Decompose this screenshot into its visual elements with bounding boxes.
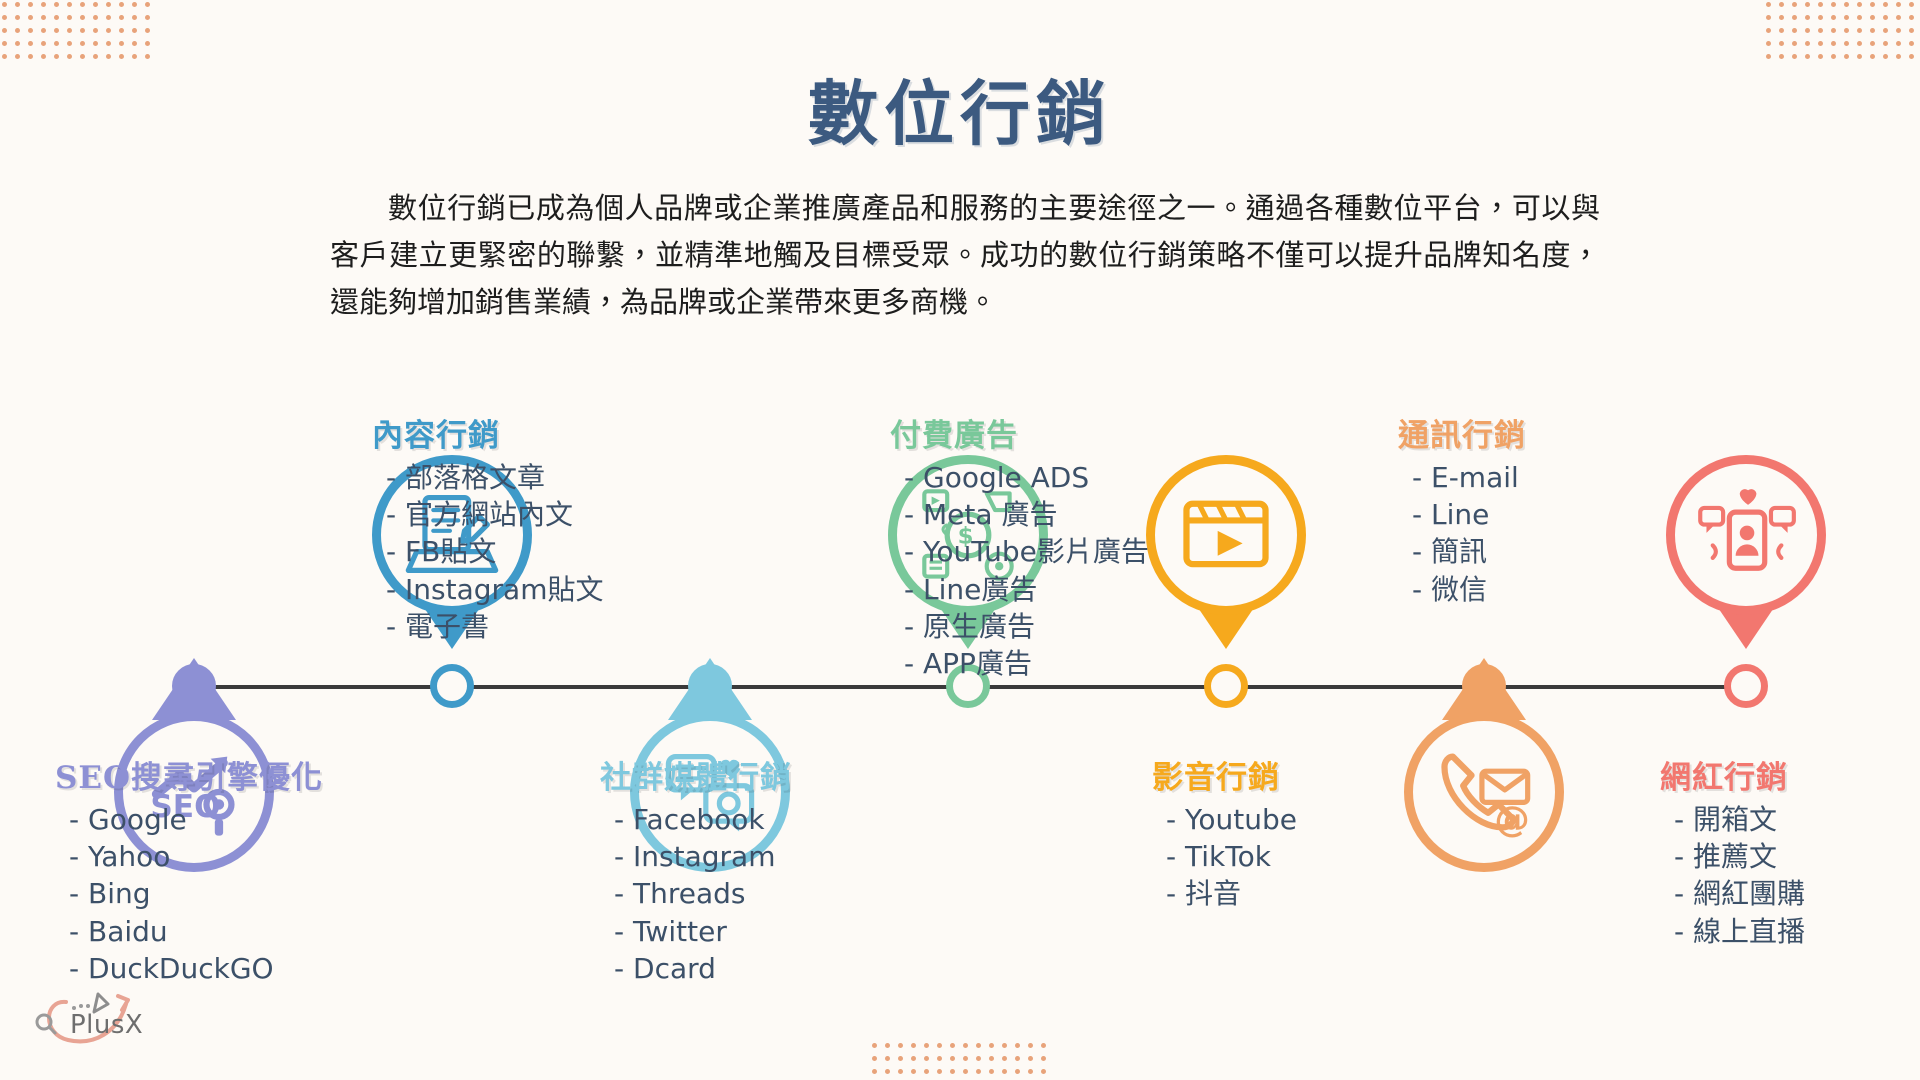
decor-dot [974, 1067, 987, 1080]
decor-dot [143, 39, 156, 52]
decor-dot [104, 39, 117, 52]
list-item: Instagram貼文 [386, 571, 603, 608]
category-heading-content: 內容行銷 [372, 410, 603, 455]
decor-dot [1790, 0, 1803, 13]
decor-dot [1803, 13, 1816, 26]
decor-dot [39, 39, 52, 52]
list-item: Meta 廣告 [904, 496, 1149, 533]
decor-dot [91, 13, 104, 26]
plusx-logo: PlusX [22, 986, 162, 1058]
decor-dot [1907, 26, 1920, 39]
list-item: 開箱文 [1674, 801, 1805, 838]
decor-dot [1777, 39, 1790, 52]
decor-dot [1907, 13, 1920, 26]
decor-dot [1907, 39, 1920, 52]
decor-dot [1777, 26, 1790, 39]
decor-dot [1039, 1041, 1052, 1054]
decor-dot [39, 26, 52, 39]
decor-dot [1764, 0, 1777, 13]
category-block-messaging: 通訊行銷E-mailLine簡訊微信 [1398, 410, 1526, 608]
decor-dot [1790, 39, 1803, 52]
decor-dots-top-left [0, 0, 156, 65]
decor-dot [26, 13, 39, 26]
decor-dot [1855, 39, 1868, 52]
decor-dot [1026, 1054, 1039, 1067]
decor-dot [1039, 1067, 1052, 1080]
decor-dot [65, 0, 78, 13]
infographic-canvas: 數位行銷 數位行銷已成為個人品牌或企業推廣產品和服務的主要途徑之一。通過各種數位… [0, 0, 1920, 1080]
decor-dot [1000, 1067, 1013, 1080]
svg-text:@: @ [1494, 800, 1529, 841]
decor-dot [1868, 13, 1881, 26]
decor-dot [143, 0, 156, 13]
decor-dot [896, 1054, 909, 1067]
decor-dots-top-right [1764, 0, 1920, 65]
phone-envelope-at-icon: @ [1404, 712, 1564, 872]
decor-dot [91, 39, 104, 52]
decor-dot [1816, 26, 1829, 39]
category-list-social: FacebookInstagramThreadsTwitterDcard [600, 801, 792, 987]
decor-dot [1777, 13, 1790, 26]
list-item: Yahoo [69, 838, 323, 875]
decor-dot [91, 0, 104, 13]
decor-dot [948, 1054, 961, 1067]
list-item: 推薦文 [1674, 838, 1805, 875]
list-item: Dcard [614, 950, 792, 987]
decor-dot [948, 1067, 961, 1080]
list-item: YouTube影片廣告 [904, 533, 1149, 570]
pin-marker-influencer[interactable] [1666, 455, 1826, 651]
decor-dot [1764, 39, 1777, 52]
category-heading-messaging: 通訊行銷 [1398, 410, 1526, 455]
decor-dot [935, 1054, 948, 1067]
decor-dot [922, 1041, 935, 1054]
category-heading-video: 影音行銷 [1152, 752, 1297, 797]
list-item: 原生廣告 [904, 608, 1149, 645]
decor-dot [1842, 0, 1855, 13]
decor-dot [78, 13, 91, 26]
decor-dot [52, 0, 65, 13]
category-list-influencer: 開箱文推薦文網紅團購線上直播 [1660, 801, 1805, 950]
decor-dot [117, 39, 130, 52]
decor-dot [870, 1067, 883, 1080]
decor-dot [1764, 26, 1777, 39]
list-item: Line廣告 [904, 571, 1149, 608]
decor-dot [1894, 39, 1907, 52]
list-item: Google [69, 801, 323, 838]
decor-dot [961, 1067, 974, 1080]
list-item: DuckDuckGO [69, 950, 323, 987]
decor-dot [1855, 26, 1868, 39]
decor-dot [935, 1041, 948, 1054]
decor-dot [78, 39, 91, 52]
decor-dot [104, 0, 117, 13]
decor-dot [1881, 0, 1894, 13]
decor-dot [870, 1054, 883, 1067]
decor-dot [1013, 1054, 1026, 1067]
decor-dot [78, 0, 91, 13]
category-block-content: 內容行銷部落格文章官方網站內文FB貼文Instagram貼文電子書 [372, 410, 603, 645]
decor-dot [1829, 39, 1842, 52]
decor-dot [91, 26, 104, 39]
decor-dots-bottom [870, 1041, 1052, 1080]
decor-dot [1842, 13, 1855, 26]
list-item: Bing [69, 875, 323, 912]
timeline-node-video[interactable] [1204, 664, 1248, 708]
decor-dot [1000, 1054, 1013, 1067]
decor-dot [26, 26, 39, 39]
decor-dot [0, 39, 13, 52]
category-block-influencer: 網紅行銷開箱文推薦文網紅團購線上直播 [1660, 752, 1805, 950]
decor-dot [26, 39, 39, 52]
video-play-clapper-icon [1146, 455, 1306, 615]
decor-dot [26, 0, 39, 13]
list-item: Threads [614, 875, 792, 912]
decor-dot [52, 39, 65, 52]
decor-dot [974, 1041, 987, 1054]
list-item: 部落格文章 [386, 459, 603, 496]
decor-dot [117, 13, 130, 26]
category-block-social: 社群媒體行銷FacebookInstagramThreadsTwitterDca… [600, 752, 792, 987]
decor-dot [1842, 39, 1855, 52]
decor-dot [13, 26, 26, 39]
decor-dot [65, 13, 78, 26]
decor-dot [1764, 13, 1777, 26]
decor-dot [1855, 0, 1868, 13]
intro-paragraph: 數位行銷已成為個人品牌或企業推廣產品和服務的主要途徑之一。通過各種數位平台，可以… [330, 185, 1600, 326]
decor-dot [1013, 1041, 1026, 1054]
decor-dot [1803, 0, 1816, 13]
list-item: Baidu [69, 913, 323, 950]
decor-dot [13, 39, 26, 52]
decor-dot [1894, 13, 1907, 26]
list-item: 微信 [1412, 571, 1526, 608]
decor-dot [143, 13, 156, 26]
decor-dot [909, 1067, 922, 1080]
decor-dot [896, 1067, 909, 1080]
decor-dot [1013, 1067, 1026, 1080]
category-list-seo: GoogleYahooBingBaiduDuckDuckGO [55, 801, 323, 987]
list-item: Google ADS [904, 459, 1149, 496]
category-heading-paid-ads: 付費廣告 [890, 410, 1149, 455]
decor-dot [922, 1067, 935, 1080]
pin-marker-video[interactable] [1146, 455, 1306, 651]
decor-dot [1790, 26, 1803, 39]
category-heading-influencer: 網紅行銷 [1660, 752, 1805, 797]
decor-dot [1868, 0, 1881, 13]
list-item: Twitter [614, 913, 792, 950]
decor-dot [1777, 0, 1790, 13]
decor-dot [1855, 13, 1868, 26]
decor-dot [961, 1054, 974, 1067]
pin-tail [668, 658, 752, 720]
page-title: 數位行銷 [0, 58, 1920, 159]
category-block-seo: SEO搜尋引擎優化GoogleYahooBingBaiduDuckDuckGO [55, 752, 323, 987]
decor-dot [948, 1041, 961, 1054]
decor-dot [1829, 0, 1842, 13]
decor-dot [1829, 13, 1842, 26]
list-item: 官方網站內文 [386, 496, 603, 533]
decor-dot [0, 26, 13, 39]
list-item: Facebook [614, 801, 792, 838]
decor-dot [130, 39, 143, 52]
category-heading-seo: SEO搜尋引擎優化 [55, 752, 323, 797]
decor-dot [1881, 39, 1894, 52]
decor-dot [1816, 13, 1829, 26]
decor-dot [104, 26, 117, 39]
category-list-content: 部落格文章官方網站內文FB貼文Instagram貼文電子書 [372, 459, 603, 645]
category-list-paid-ads: Google ADSMeta 廣告YouTube影片廣告Line廣告原生廣告AP… [890, 459, 1149, 682]
decor-dot [104, 13, 117, 26]
decor-dot [896, 1041, 909, 1054]
decor-dot [909, 1054, 922, 1067]
pin-tail [1442, 658, 1526, 720]
decor-dot [78, 26, 91, 39]
timeline-node-content[interactable] [430, 664, 474, 708]
decor-dot [52, 26, 65, 39]
decor-dot [1026, 1041, 1039, 1054]
pin-tail [152, 658, 236, 720]
decor-dot [1816, 0, 1829, 13]
decor-dot [1894, 0, 1907, 13]
category-block-paid-ads: 付費廣告Google ADSMeta 廣告YouTube影片廣告Line廣告原生… [890, 410, 1149, 682]
category-list-messaging: E-mailLine簡訊微信 [1398, 459, 1526, 608]
decor-dot [922, 1054, 935, 1067]
decor-dot [1842, 26, 1855, 39]
list-item: Line [1412, 496, 1526, 533]
decor-dot [39, 0, 52, 13]
decor-dot [1816, 39, 1829, 52]
decor-dot [974, 1054, 987, 1067]
decor-dot [987, 1067, 1000, 1080]
list-item: FB貼文 [386, 533, 603, 570]
decor-dot [987, 1041, 1000, 1054]
decor-dot [1803, 39, 1816, 52]
decor-dot [0, 13, 13, 26]
decor-dot [117, 26, 130, 39]
decor-dot [1894, 26, 1907, 39]
decor-dot [1803, 26, 1816, 39]
decor-dot [117, 0, 130, 13]
list-item: APP廣告 [904, 645, 1149, 682]
timeline-node-influencer[interactable] [1724, 664, 1768, 708]
decor-dot [1829, 26, 1842, 39]
decor-dot [961, 1041, 974, 1054]
decor-dot [1790, 13, 1803, 26]
decor-dot [13, 13, 26, 26]
pin-marker-messaging[interactable]: @ [1404, 712, 1564, 908]
decor-dot [883, 1054, 896, 1067]
decor-dot [1868, 26, 1881, 39]
decor-dot [130, 13, 143, 26]
category-list-video: YoutubeTikTok抖音 [1152, 801, 1297, 913]
decor-dot [883, 1041, 896, 1054]
decor-dot [1881, 13, 1894, 26]
logo-text: PlusX [70, 1010, 143, 1040]
decor-dot [909, 1041, 922, 1054]
list-item: Youtube [1166, 801, 1297, 838]
list-item: 簡訊 [1412, 533, 1526, 570]
decor-dot [883, 1067, 896, 1080]
list-item: TikTok [1166, 838, 1297, 875]
decor-dot [987, 1054, 1000, 1067]
decor-dot [1868, 39, 1881, 52]
decor-dot [1000, 1041, 1013, 1054]
category-block-video: 影音行銷YoutubeTikTok抖音 [1152, 752, 1297, 913]
decor-dot [0, 0, 13, 13]
decor-dot [143, 26, 156, 39]
decor-dot [130, 26, 143, 39]
list-item: 抖音 [1166, 875, 1297, 912]
decor-dot [1907, 0, 1920, 13]
phone-person-hearts-icon [1666, 455, 1826, 615]
decor-dot [65, 26, 78, 39]
decor-dot [870, 1041, 883, 1054]
decor-dot [1039, 1054, 1052, 1067]
decor-dot [13, 0, 26, 13]
decor-dot [935, 1067, 948, 1080]
list-item: 電子書 [386, 608, 603, 645]
list-item: 網紅團購 [1674, 875, 1805, 912]
decor-dot [1026, 1067, 1039, 1080]
decor-dot [65, 39, 78, 52]
decor-dot [1881, 26, 1894, 39]
decor-dot [52, 13, 65, 26]
list-item: 線上直播 [1674, 913, 1805, 950]
list-item: Instagram [614, 838, 792, 875]
list-item: E-mail [1412, 459, 1526, 496]
category-heading-social: 社群媒體行銷 [600, 752, 792, 797]
decor-dot [130, 0, 143, 13]
decor-dot [39, 13, 52, 26]
